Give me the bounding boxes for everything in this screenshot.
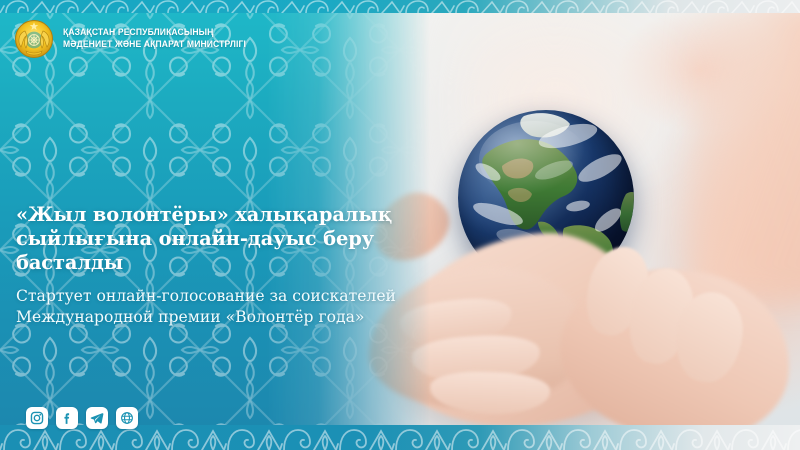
ministry-title-line2: МӘДЕНИЕТ ЖӘНЕ АҚПАРАТ МИНИСТРЛІГІ xyxy=(63,39,246,51)
ministry-title-line1: ҚАЗАҚСТАН РЕСПУБЛИКАСЫНЫҢ xyxy=(63,27,246,39)
news-banner: ҚАЗАҚСТАН РЕСПУБЛИКАСЫНЫҢ МӘДЕНИЕТ ЖӘНЕ … xyxy=(0,0,800,450)
top-ornament-band xyxy=(0,0,800,13)
kazakhstan-state-emblem-icon xyxy=(14,19,54,59)
headline-kazakh: «Жыл волонтёры» халықаралық сыйлығына он… xyxy=(16,203,396,275)
ministry-header: ҚАЗАҚСТАН РЕСПУБЛИКАСЫНЫҢ МӘДЕНИЕТ ЖӘНЕ … xyxy=(14,19,260,59)
facebook-icon[interactable] xyxy=(56,407,78,429)
website-globe-icon[interactable] xyxy=(116,407,138,429)
instagram-icon[interactable] xyxy=(26,407,48,429)
ministry-title: ҚАЗАҚСТАН РЕСПУБЛИКАСЫНЫҢ МӘДЕНИЕТ ЖӘНЕ … xyxy=(63,27,260,50)
photo-arm-right xyxy=(690,0,800,300)
social-links xyxy=(26,407,138,429)
telegram-icon[interactable] xyxy=(86,407,108,429)
subheadline-russian: Стартует онлайн-голосование за соискател… xyxy=(16,286,406,328)
